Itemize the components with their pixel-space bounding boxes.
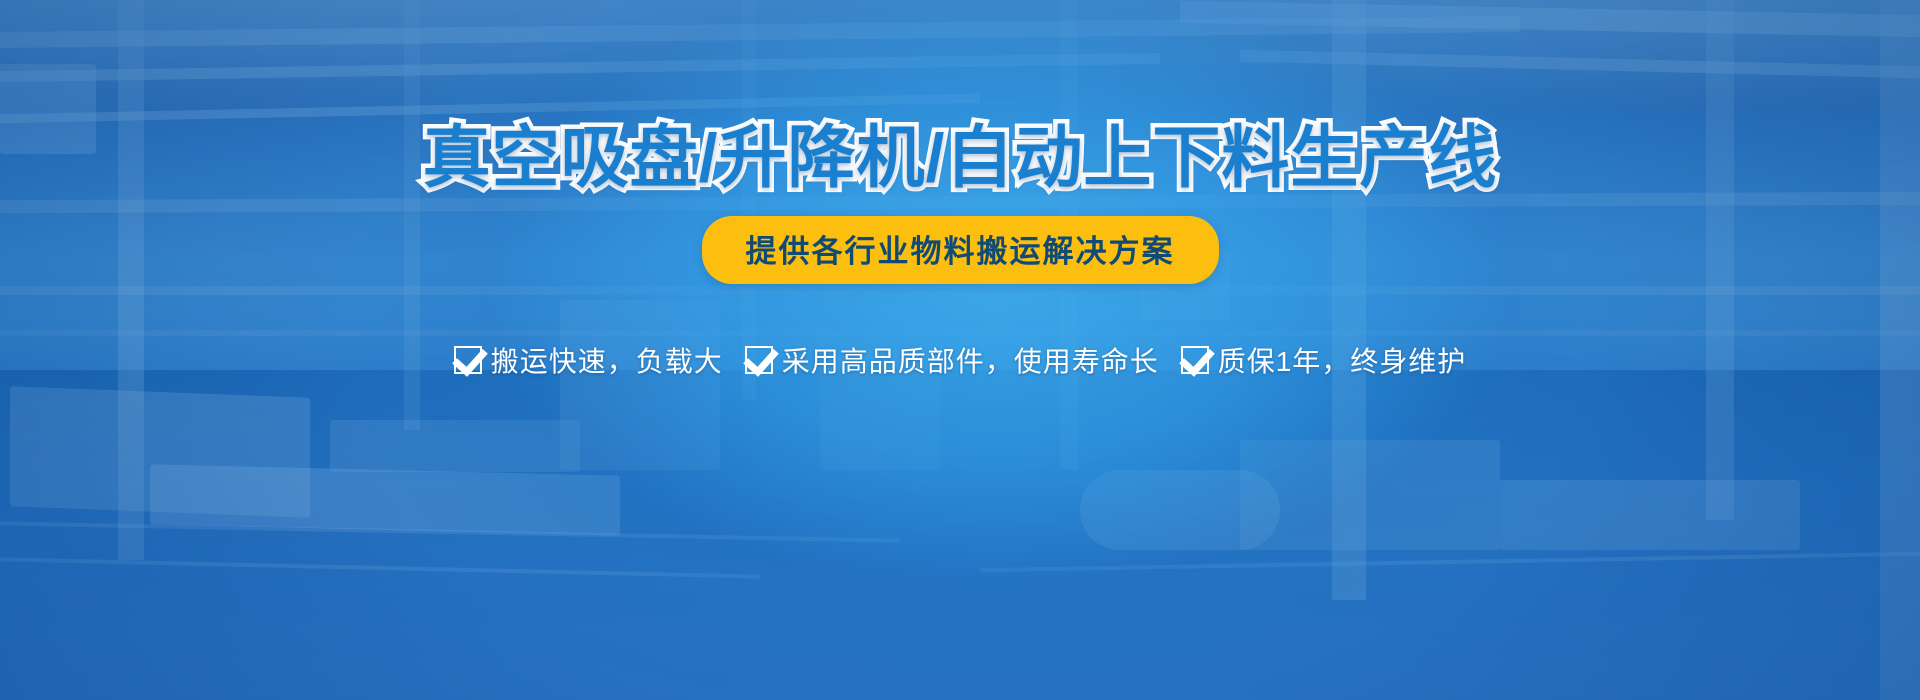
feature-label: 质保1年，终身维护 (1218, 340, 1467, 380)
feature-item: 质保1年，终身维护 (1181, 340, 1467, 380)
checkbox-checked-icon (454, 346, 482, 374)
feature-item: 采用高品质部件，使用寿命长 (745, 340, 1159, 380)
checkbox-checked-icon (745, 346, 773, 374)
banner-content: 真空吸盘/升降机/自动上下料生产线 提供各行业物料搬运解决方案 搬运快速，负载大… (0, 0, 1920, 700)
feature-list: 搬运快速，负载大 采用高品质部件，使用寿命长 质保1年，终身维护 (454, 340, 1467, 380)
feature-label: 采用高品质部件，使用寿命长 (782, 340, 1159, 380)
checkbox-checked-icon (1181, 346, 1209, 374)
feature-item: 搬运快速，负载大 (454, 340, 723, 380)
feature-label: 搬运快速，负载大 (491, 340, 723, 380)
hero-banner: 真空吸盘/升降机/自动上下料生产线 提供各行业物料搬运解决方案 搬运快速，负载大… (0, 0, 1920, 700)
banner-tagline-pill: 提供各行业物料搬运解决方案 (702, 216, 1219, 284)
banner-headline: 真空吸盘/升降机/自动上下料生产线 (423, 122, 1498, 194)
